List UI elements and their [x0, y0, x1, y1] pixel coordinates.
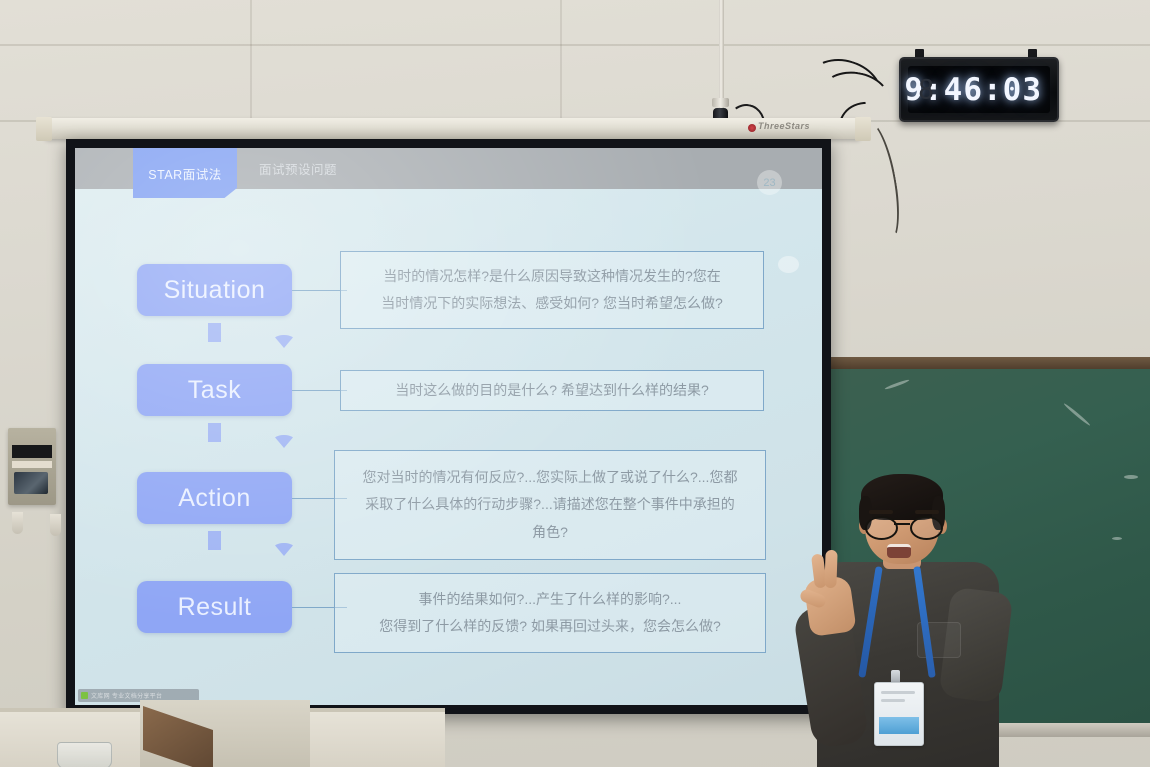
panel-slot: [12, 445, 52, 458]
connector-line: [292, 390, 347, 391]
presenter: [795, 470, 1020, 767]
connector-line: [292, 290, 347, 291]
wall-seam: [0, 44, 1150, 46]
question-box-situation: 当时的情况怎样?是什么原因导致这种情况发生的?您在 当时情况下的实际想法、感受如…: [340, 251, 764, 329]
clock-ghost-digit: 8: [918, 74, 935, 105]
classroom-scene: 8 9:46:03 ThreeStars 面试预设问题 STAR面试法 23 S…: [0, 0, 1150, 767]
question-line: 您对当时的情况有何反应?...您实际上做了或说了什么?...您都: [363, 464, 738, 491]
question-line: 采取了什么具体的行动步骤?...请描述您在整个事件中承担的: [365, 491, 734, 518]
question-line: 您得到了什么样的反馈? 如果再回过头来，您会怎么做?: [379, 613, 720, 640]
eyeglass-lens: [865, 516, 898, 540]
clock-display: 8 9:46:03: [908, 66, 1050, 113]
question-line: 当时情况下的实际想法、感受如何? 您当时希望怎么做?: [381, 290, 722, 317]
drinking-glass: [57, 742, 112, 767]
flow-arrow-down: [203, 531, 225, 550]
presentation-slide: 面试预设问题 STAR面试法 23 Situation 当时的情况怎样?是什么原…: [75, 148, 822, 705]
flow-arrow-down: [203, 423, 225, 442]
id-badge-band: [879, 717, 919, 734]
eyeglasses: [863, 516, 943, 536]
question-box-action: 您对当时的情况有何反应?...您实际上做了或说了什么?...您都 采取了什么具体…: [334, 450, 766, 560]
watermark-icon: [81, 692, 88, 699]
slide-glare-blob: [778, 256, 799, 273]
slide-number-badge: 23: [757, 170, 782, 195]
projection-screen: 面试预设问题 STAR面试法 23 Situation 当时的情况怎样?是什么原…: [66, 139, 831, 714]
digital-clock: 8 9:46:03: [899, 57, 1059, 122]
eyeglass-bridge: [894, 523, 910, 525]
wall-control-panel[interactable]: [8, 428, 56, 505]
step-pill-situation: Situation: [137, 264, 292, 316]
microphone-collar: [712, 98, 729, 107]
panel-strip: [12, 461, 52, 468]
presenter-mouth: [887, 544, 911, 558]
step-pill-result: Result: [137, 581, 292, 633]
question-box-task: 当时这么做的目的是什么? 希望达到什么样的结果?: [340, 370, 764, 411]
tab-interview-questions[interactable]: 面试预设问题: [243, 148, 353, 189]
brand-label: ThreeStars: [758, 121, 810, 131]
question-box-result: 事件的结果如何?...产生了什么样的影响?... 您得到了什么样的反馈? 如果再…: [334, 573, 766, 653]
panel-window: [14, 472, 48, 494]
question-line: 事件的结果如何?...产生了什么样的影响?...: [419, 586, 682, 613]
brand-logo-icon: [748, 124, 756, 132]
question-line: 当时这么做的目的是什么? 希望达到什么样的结果?: [395, 377, 708, 404]
presenter-eyebrow: [869, 510, 893, 514]
tab-star-method[interactable]: STAR面试法: [133, 148, 237, 198]
watermark-text: 文库网 专业文档分享平台: [91, 691, 162, 700]
projector-screen-housing: [45, 118, 860, 139]
question-line: 角色?: [532, 519, 568, 546]
wall-hook: [50, 514, 61, 536]
id-badge: [874, 682, 924, 746]
question-line: 当时的情况怎样?是什么原因导致这种情况发生的?您在: [383, 263, 721, 290]
eyeglass-lens: [910, 516, 943, 540]
step-pill-task: Task: [137, 364, 292, 416]
presenter-eyebrow: [915, 510, 939, 514]
microphone-pole: [719, 0, 724, 112]
flow-arrow-down: [203, 323, 225, 342]
housing-end-cap: [855, 117, 871, 141]
wall-hook: [12, 512, 23, 534]
presenter-finger: [824, 550, 837, 588]
step-pill-action: Action: [137, 472, 292, 524]
housing-end-cap: [36, 117, 52, 141]
